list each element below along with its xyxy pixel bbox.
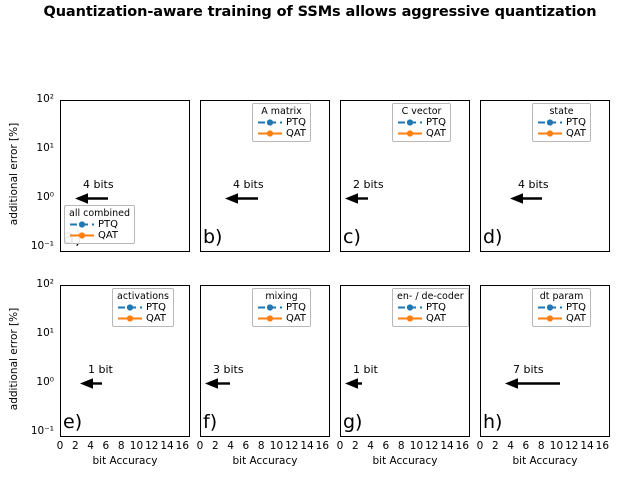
annotation-label: 1 bit [353, 363, 378, 376]
legend-swatch [537, 313, 563, 324]
legend-label: QAT [283, 313, 306, 324]
legend-swatch [537, 302, 563, 313]
y-axis-label: additional error [%] [8, 283, 20, 435]
annotation-label: 7 bits [513, 363, 544, 376]
legend-label: QAT [563, 128, 586, 139]
annotation-arrow [80, 377, 106, 390]
legend-entry: QAT [397, 128, 446, 139]
subplot-tag: h) [483, 411, 502, 433]
legend-title: en- / de-coder [397, 291, 464, 302]
legend-entry: QAT [537, 313, 586, 324]
legend-swatch [69, 230, 95, 241]
y-tick-label: 10² [24, 278, 54, 290]
annotation-label: 3 bits [213, 363, 244, 376]
subplot-tag: d) [483, 226, 502, 248]
y-tick-label: 10² [24, 93, 54, 105]
legend-label: PTQ [563, 117, 586, 128]
legend-label: QAT [423, 313, 446, 324]
legend-swatch [69, 219, 95, 230]
annotation-label: 4 bits [518, 178, 549, 191]
x-axis-label: bit Accuracy [340, 455, 470, 467]
subplot-tag: g) [343, 411, 362, 433]
legend: en- / de-coderPTQQAT [392, 288, 469, 327]
x-axis-label: bit Accuracy [480, 455, 610, 467]
legend-swatch [397, 313, 423, 324]
subplot-tag: e) [63, 411, 82, 433]
legend-label: PTQ [563, 302, 586, 313]
x-axis-label: bit Accuracy [200, 455, 330, 467]
legend-label: QAT [423, 128, 446, 139]
annotation-label: 4 bits [83, 178, 114, 191]
legend-entry: PTQ [397, 302, 464, 313]
legend: statePTQQAT [532, 103, 591, 142]
legend-label: QAT [95, 230, 118, 241]
legend-entry: PTQ [537, 302, 586, 313]
legend-entry: QAT [69, 230, 130, 241]
legend-entry: PTQ [257, 117, 306, 128]
y-tick-label: 10⁻¹ [24, 240, 54, 252]
annotation-arrow [345, 192, 372, 205]
legend-swatch [537, 128, 563, 139]
figure-title: Quantization-aware training of SSMs allo… [0, 4, 640, 20]
legend: all combinedPTQQAT [64, 205, 135, 244]
legend-entry: QAT [397, 313, 464, 324]
legend-label: PTQ [95, 219, 118, 230]
y-tick-label: 10¹ [24, 142, 54, 154]
legend-swatch [257, 128, 283, 139]
legend-label: QAT [143, 313, 166, 324]
legend: activationsPTQQAT [112, 288, 174, 327]
y-axis-label: additional error [%] [8, 98, 20, 250]
y-tick-label: 10⁻¹ [24, 425, 54, 437]
legend: C vectorPTQQAT [392, 103, 451, 142]
x-tick-label: 16 [592, 440, 612, 452]
legend-title: activations [117, 291, 169, 302]
legend-label: QAT [283, 128, 306, 139]
legend-entry: QAT [117, 313, 169, 324]
legend-entry: PTQ [257, 302, 306, 313]
legend-label: PTQ [283, 302, 306, 313]
legend-label: PTQ [143, 302, 166, 313]
legend-swatch [397, 117, 423, 128]
legend-swatch [257, 117, 283, 128]
legend-entry: QAT [257, 313, 306, 324]
legend: A matrixPTQQAT [252, 103, 311, 142]
annotation-label: 1 bit [88, 363, 113, 376]
annotation-arrow [75, 192, 112, 205]
legend-entry: PTQ [397, 117, 446, 128]
legend-swatch [397, 302, 423, 313]
legend-swatch [397, 128, 423, 139]
annotation-arrow [505, 377, 564, 390]
annotation-arrow [225, 192, 262, 205]
legend-label: PTQ [283, 117, 306, 128]
subplot-tag: f) [203, 411, 217, 433]
legend-label: QAT [563, 313, 586, 324]
legend: mixingPTQQAT [252, 288, 311, 327]
y-tick-label: 10⁰ [24, 191, 54, 203]
legend-label: PTQ [423, 302, 446, 313]
y-tick-label: 10⁰ [24, 376, 54, 388]
legend-title: C vector [397, 106, 446, 117]
annotation-arrow [510, 192, 546, 205]
legend-label: PTQ [423, 117, 446, 128]
y-tick-label: 10¹ [24, 327, 54, 339]
legend-title: mixing [257, 291, 306, 302]
legend-entry: PTQ [117, 302, 169, 313]
legend-title: A matrix [257, 106, 306, 117]
subplot-tag: c) [343, 226, 361, 248]
legend-title: all combined [69, 208, 130, 219]
legend-swatch [117, 302, 143, 313]
legend-title: state [537, 106, 586, 117]
subplot-tag: b) [203, 226, 222, 248]
legend-swatch [117, 313, 143, 324]
legend-entry: QAT [537, 128, 586, 139]
annotation-label: 4 bits [233, 178, 264, 191]
x-axis-label: bit Accuracy [60, 455, 190, 467]
annotation-label: 2 bits [353, 178, 384, 191]
legend-swatch [257, 313, 283, 324]
annotation-arrow [345, 377, 366, 390]
legend-entry: QAT [257, 128, 306, 139]
legend-title: dt param [537, 291, 586, 302]
legend-swatch [257, 302, 283, 313]
annotation-arrow [205, 377, 234, 390]
legend-entry: PTQ [69, 219, 130, 230]
legend: dt paramPTQQAT [532, 288, 591, 327]
legend-entry: PTQ [537, 117, 586, 128]
legend-swatch [537, 117, 563, 128]
